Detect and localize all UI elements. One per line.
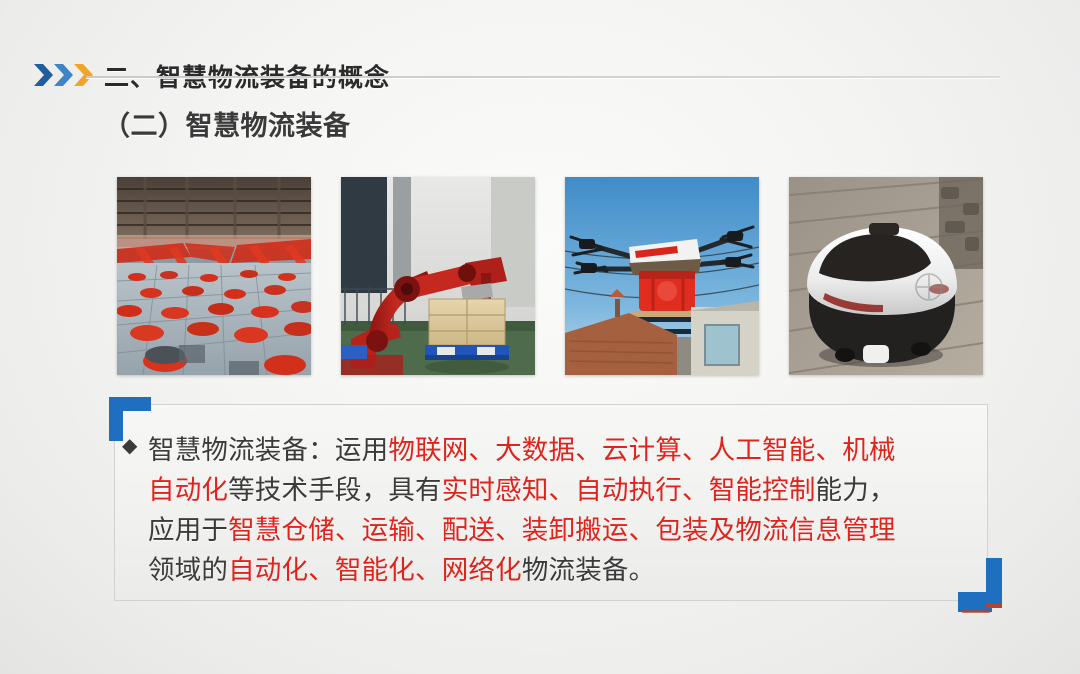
- definition-line-2: 自动化等技术手段，具有实时感知、自动执行、智能控制能力，: [148, 470, 978, 510]
- seg-highlight: 自动化: [148, 475, 228, 505]
- seg-highlight: 智慧仓储、运输、配送、装卸搬运、包装及物流信息管理: [228, 515, 896, 545]
- seg-plain: 智慧物流装备：运用: [148, 435, 388, 465]
- seg-highlight: 实时感知、自动执行、智能控制: [442, 475, 816, 505]
- seg-highlight: 物联网、大数据、云计算、人工智能、机械: [388, 435, 895, 465]
- definition-line-3: 应用于智慧仓储、运输、配送、装卸搬运、包装及物流信息管理: [148, 510, 978, 550]
- photo-delivery-drone: [565, 177, 759, 375]
- header-divider: [86, 76, 1000, 78]
- corner-bracket-bottom-right-icon: [956, 558, 1008, 622]
- seg-highlight: 自动化、智能化、网络化: [228, 555, 522, 585]
- section-subtitle: （二）智慧物流装备: [103, 104, 351, 143]
- seg-plain: 领域的: [148, 555, 228, 585]
- seg-plain: 等技术手段，具有: [228, 475, 442, 505]
- chevron-triple-icon: [33, 62, 95, 88]
- definition-line-4: 领域的自动化、智能化、网络化物流装备。: [148, 550, 978, 590]
- photo-strip: [117, 177, 983, 375]
- photo-agv-warehouse-robots: [117, 177, 311, 375]
- photo-autonomous-delivery-vehicle: [789, 177, 983, 375]
- photo-palletizing-robot-arm: [341, 177, 535, 375]
- seg-plain: 能力，: [816, 475, 896, 505]
- definition-text: 智慧物流装备：运用物联网、大数据、云计算、人工智能、机械 自动化等技术手段，具有…: [148, 430, 978, 590]
- seg-plain: 物流装备。: [522, 555, 656, 585]
- slide-header: 二、智慧物流装备的概念: [0, 26, 1080, 72]
- corner-bracket-top-left-icon: [109, 397, 151, 441]
- slide-canvas: 二、智慧物流装备的概念 （二）智慧物流装备: [0, 0, 1080, 674]
- seg-plain: 应用于: [148, 515, 228, 545]
- definition-line-1: 智慧物流装备：运用物联网、大数据、云计算、人工智能、机械: [148, 430, 978, 470]
